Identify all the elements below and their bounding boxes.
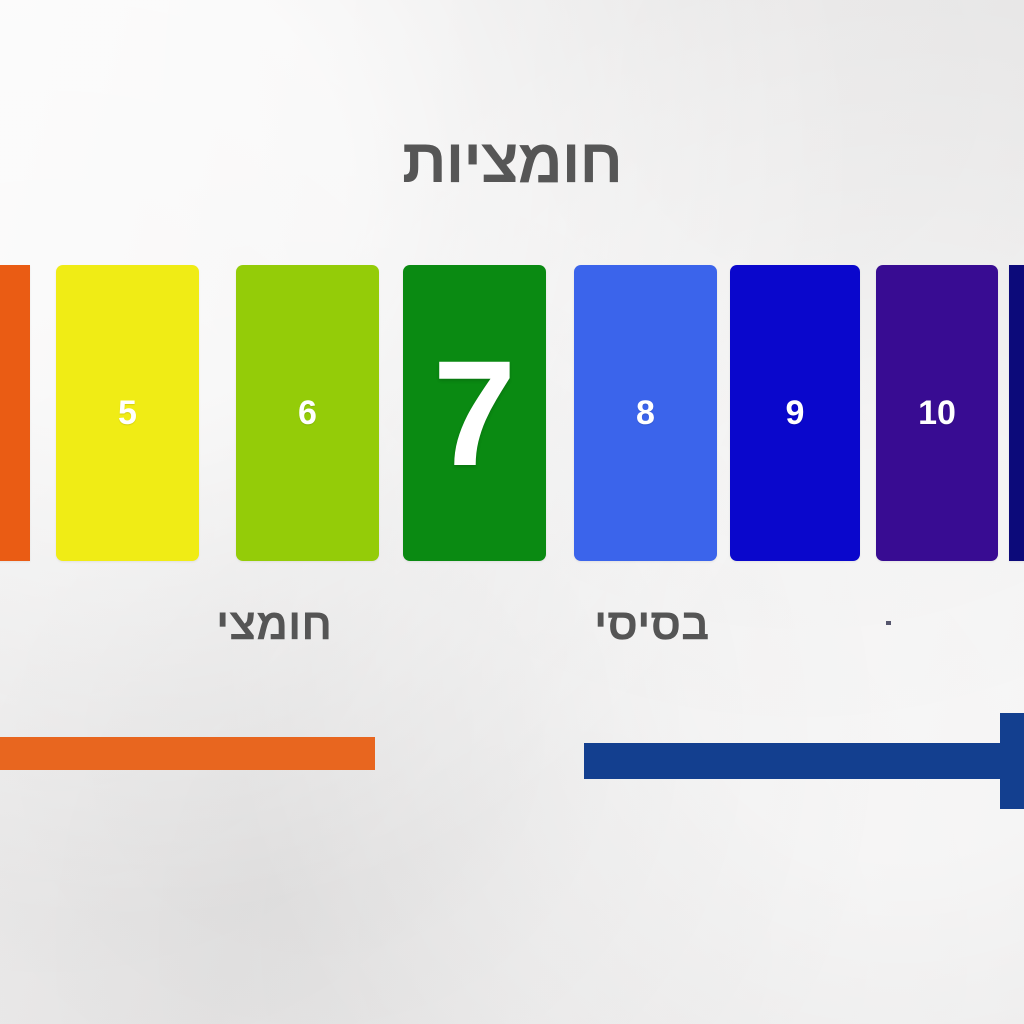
ph-bar-11[interactable] (1009, 265, 1024, 561)
ph-bar-value-9: 9 (730, 396, 860, 430)
ph-bar-value-10: 10 (876, 396, 998, 430)
range-label-basic: בסיסי (594, 601, 709, 649)
acidic-direction-arrow (0, 737, 375, 770)
basic-arrow-shaft (584, 743, 1002, 779)
dust-speck-artifact (886, 621, 891, 625)
ph-bar-value-7: 7 (403, 338, 546, 488)
ph-bar-10[interactable]: 10 (876, 265, 998, 561)
ph-bar-7[interactable]: 7 (403, 265, 546, 561)
ph-bar-value-5: 5 (56, 396, 199, 430)
ph-bar-4[interactable] (0, 265, 30, 561)
basic-direction-arrow (584, 741, 1024, 781)
basic-arrow-head (1000, 713, 1024, 809)
ph-bar-6[interactable]: 6 (236, 265, 379, 561)
infographic-canvas: חומציות 5678910 חומצי בסיסי (0, 0, 1024, 1024)
ph-bar-9[interactable]: 9 (730, 265, 860, 561)
ph-bar-value-8: 8 (574, 396, 717, 430)
ph-bar-5[interactable]: 5 (56, 265, 199, 561)
page-title: חומציות (0, 131, 1024, 193)
ph-bar-8[interactable]: 8 (574, 265, 717, 561)
range-label-acidic: חומצי (216, 601, 332, 649)
ph-bar-value-6: 6 (236, 396, 379, 430)
